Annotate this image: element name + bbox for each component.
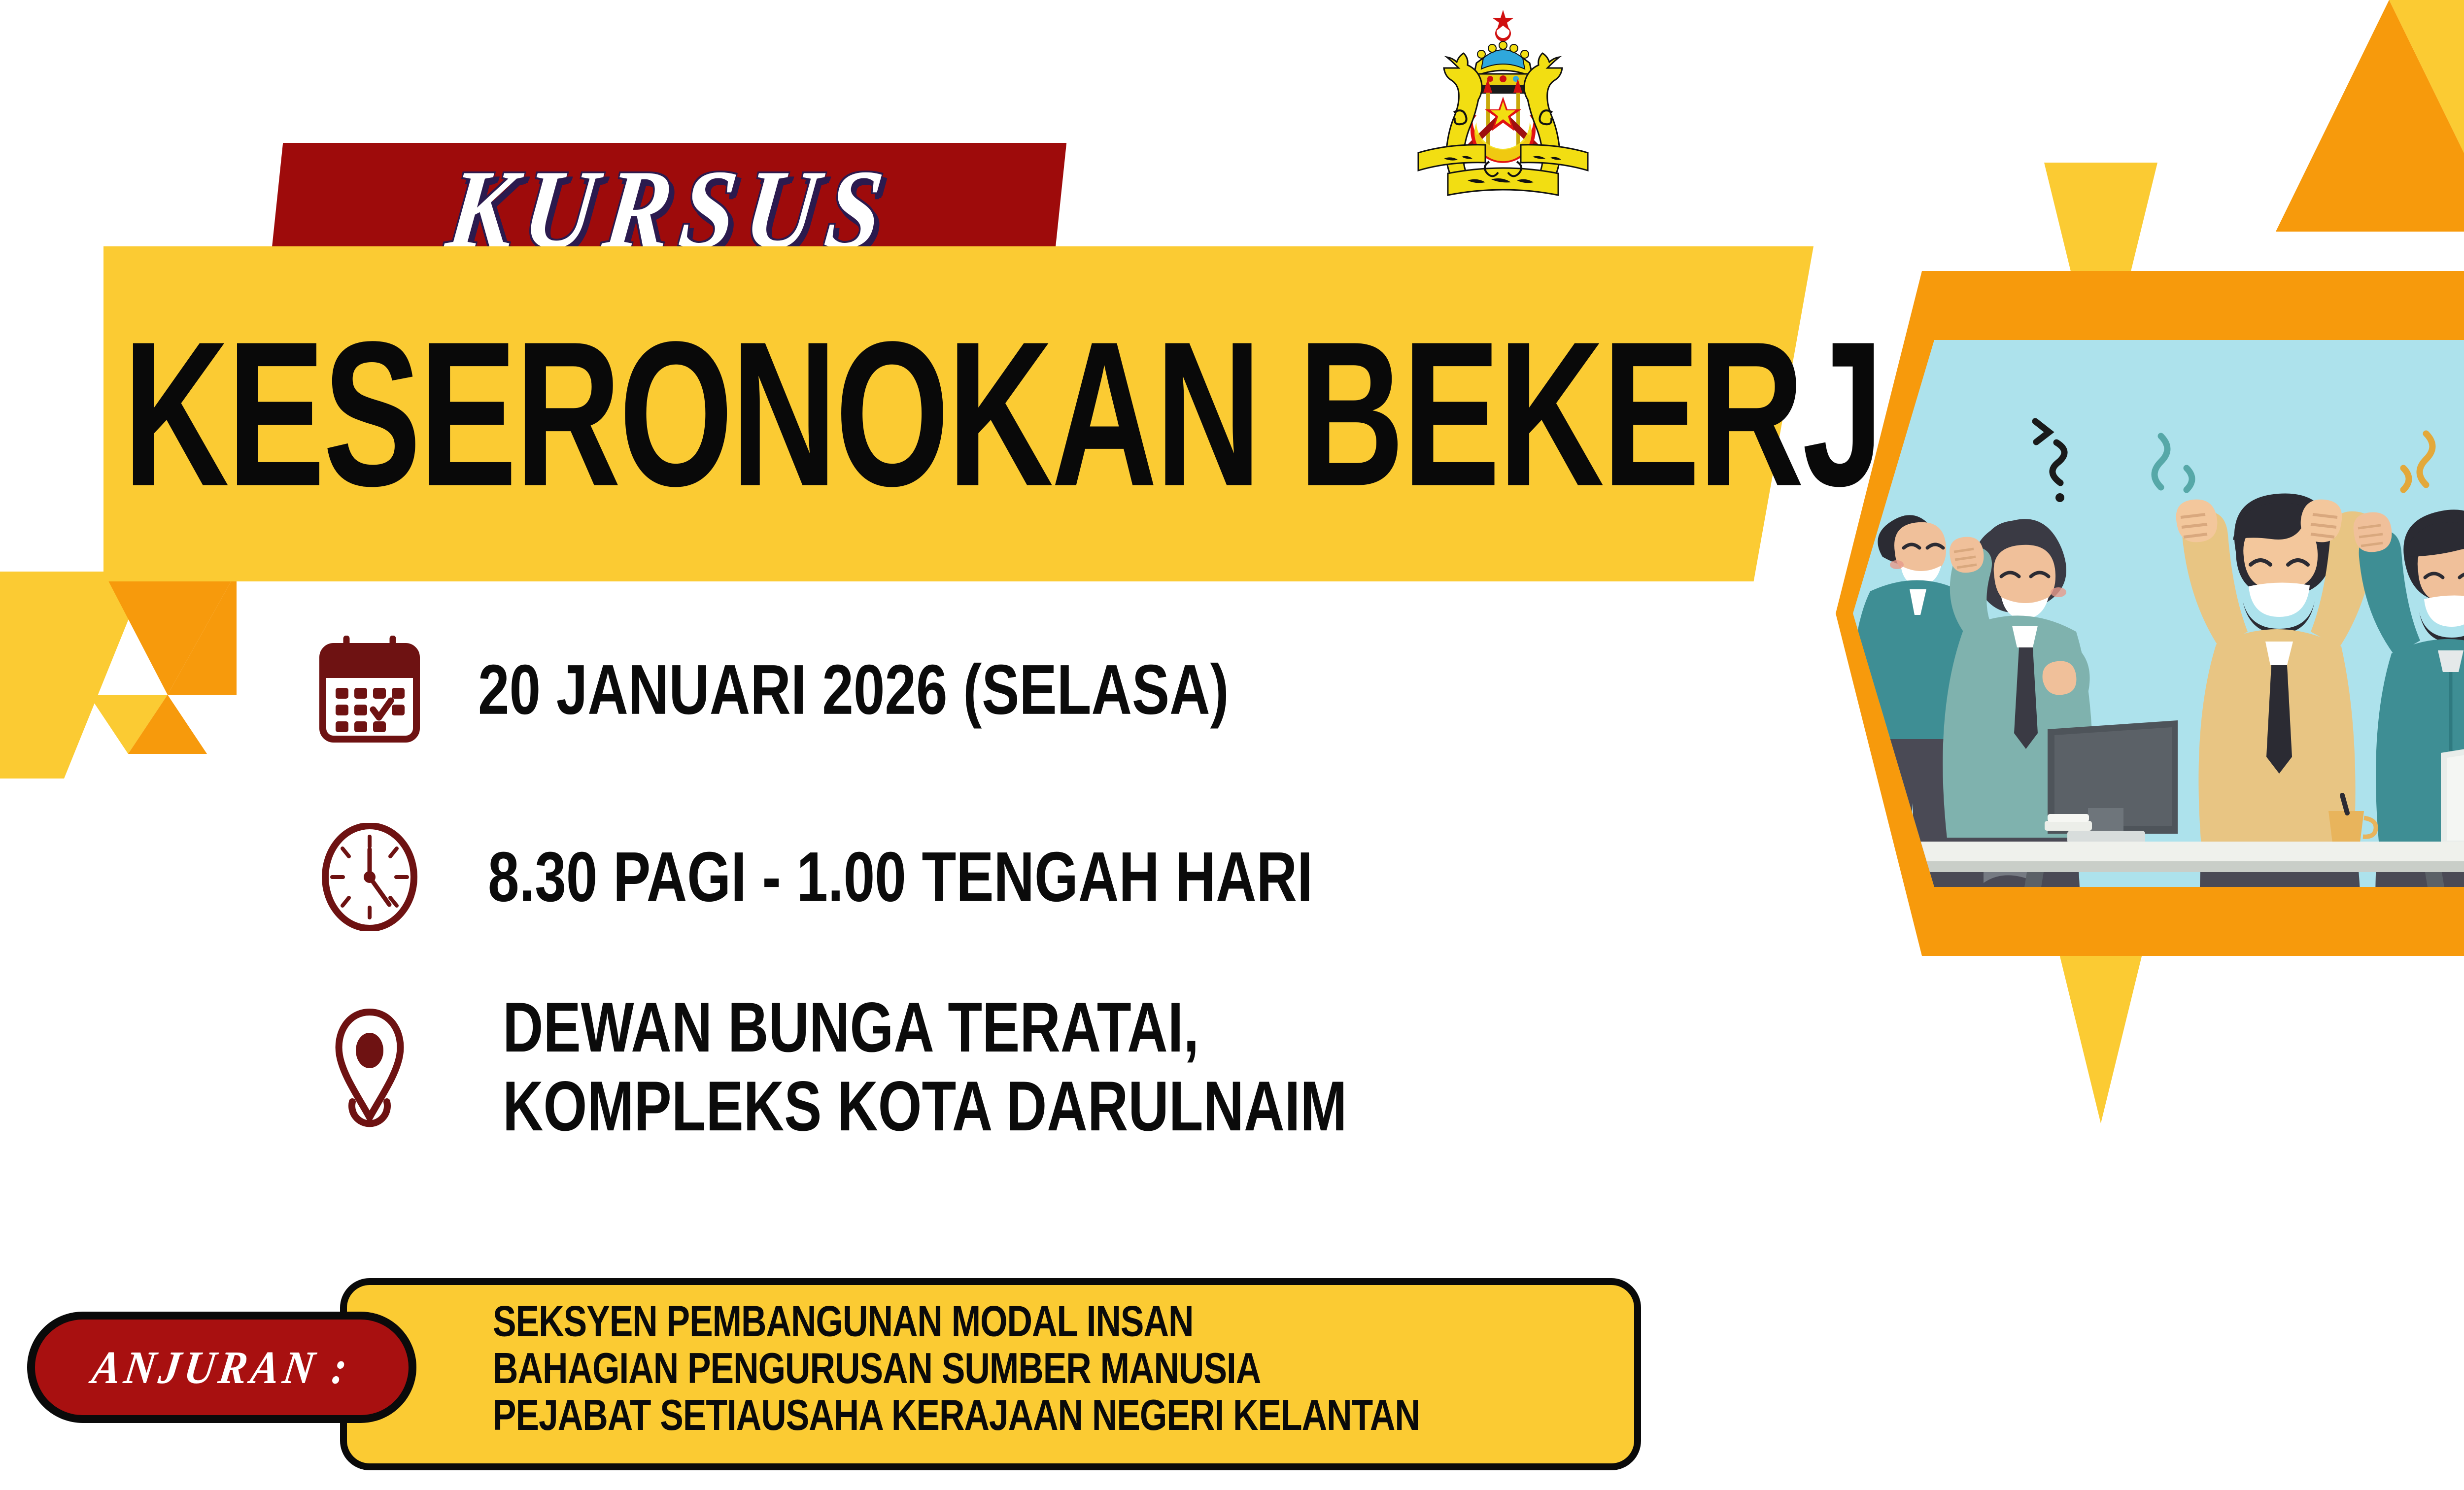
kelantan-coat-of-arms-icon — [1385, 5, 1621, 207]
poster-canvas: KURSUS KESERONOKAN BEKERJA — [0, 0, 2464, 1490]
detail-row-date: 20 JANUARI 2026 (SELASA) — [296, 636, 1214, 744]
organiser-line-1: SEKSYEN PEMBANGUNAN MODAL INSAN — [493, 1299, 1615, 1346]
organiser-line-2: BAHAGIAN PENGURUSAN SUMBER MANUSIA — [493, 1346, 1615, 1392]
venue-line-2: KOMPLEKS KOTA DARULNAIM — [503, 1067, 1347, 1146]
detail-date-label: 20 JANUARI 2026 (SELASA) — [478, 650, 1229, 730]
venue-line-1: DEWAN BUNGA TERATAI, — [503, 988, 1199, 1067]
clock-icon — [296, 823, 444, 931]
organiser-lines: SEKSYEN PEMBANGUNAN MODAL INSAN BAHAGIAN… — [493, 1299, 1615, 1439]
detail-row-time: 8.30 PAGI - 1.00 TENGAH HARI — [296, 823, 1297, 931]
organiser-line-3: PEJABAT SETIAUSAHA KERAJAAN NEGERI KELAN… — [493, 1392, 1615, 1439]
detail-time-label: 8.30 PAGI - 1.00 TENGAH HARI — [488, 838, 1313, 917]
location-pin-icon — [296, 1005, 444, 1128]
anjuran-label: ANJURAN : — [89, 1340, 354, 1394]
detail-venue-label: DEWAN BUNGA TERATAI, KOMPLEKS KOTA DARUL… — [503, 988, 1347, 1146]
hexagon-photo-frame — [1836, 212, 2464, 1015]
anjuran-badge: ANJURAN : — [27, 1312, 416, 1423]
calendar-icon — [296, 636, 444, 744]
page-title: KESERONOKAN BEKERJA — [123, 281, 1732, 547]
detail-row-venue: DEWAN BUNGA TERATAI, KOMPLEKS KOTA DARUL… — [296, 1005, 1331, 1129]
